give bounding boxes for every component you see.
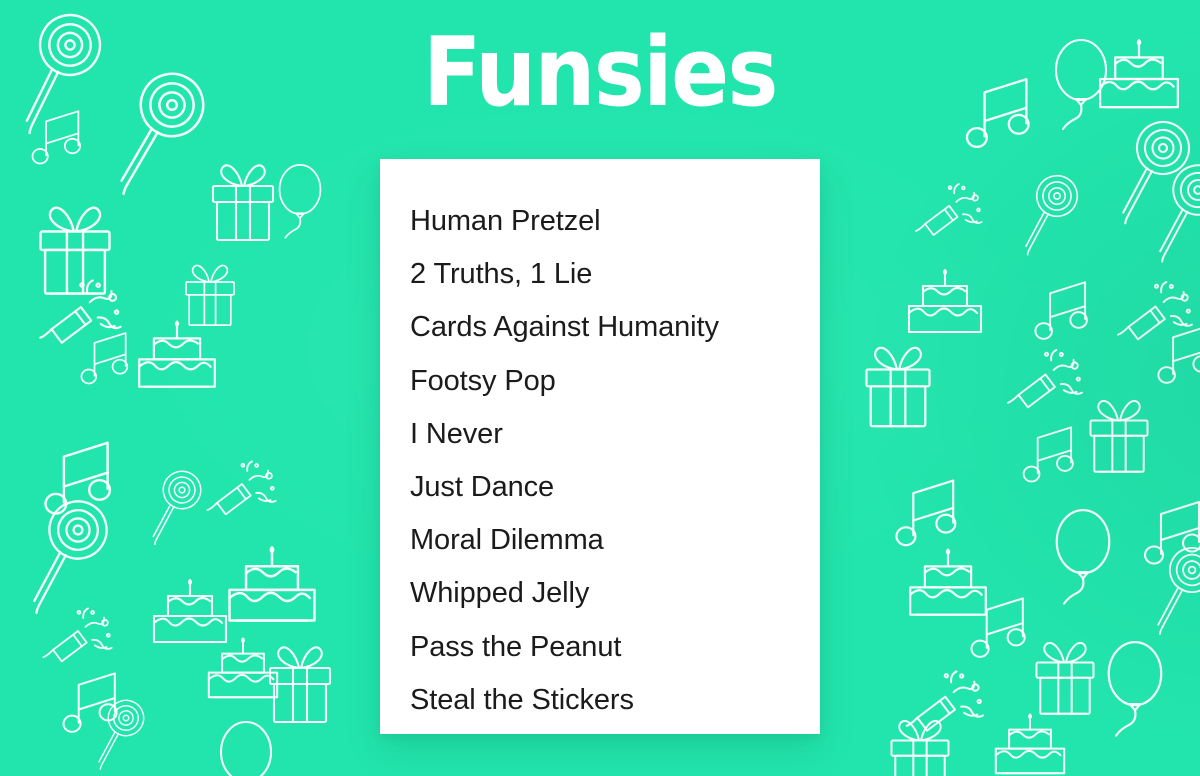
list-item: Moral Dilemma	[410, 514, 790, 567]
list-item: Pass the Peanut	[410, 621, 790, 674]
balloon-icon	[1057, 510, 1110, 603]
lollipop-icon	[10, 495, 124, 613]
party-popper-icon	[207, 456, 280, 521]
party-popper-icon	[1008, 344, 1088, 414]
list-item: I Never	[410, 408, 790, 461]
gift-box-icon	[41, 208, 110, 294]
gift-box-icon	[1091, 401, 1148, 472]
birthday-cake-icon	[230, 547, 315, 620]
games-list-card: Human Pretzel2 Truths, 1 LieCards Agains…	[380, 159, 820, 734]
games-list: Human Pretzel2 Truths, 1 LieCards Agains…	[410, 195, 790, 727]
lollipop-icon	[1009, 171, 1090, 255]
music-note-icon	[1158, 326, 1200, 383]
music-note-icon	[1035, 282, 1087, 339]
lollipop-icon	[1139, 543, 1200, 634]
party-popper-icon	[43, 603, 116, 668]
gift-box-icon	[213, 165, 273, 240]
birthday-cake-icon	[209, 638, 277, 697]
music-note-icon	[897, 481, 956, 546]
list-item: Footsy Pop	[410, 355, 790, 408]
party-popper-icon	[906, 666, 988, 738]
birthday-cake-icon	[139, 322, 215, 387]
list-item: Cards Against Humanity	[410, 301, 790, 354]
music-note-icon	[972, 598, 1025, 656]
birthday-cake-icon	[154, 580, 226, 642]
list-item: Steal the Stickers	[410, 674, 790, 727]
music-note-icon	[1024, 427, 1073, 481]
party-popper-icon	[1118, 276, 1198, 346]
lollipop-icon	[84, 696, 155, 769]
gift-box-icon	[892, 721, 949, 776]
gift-box-icon	[270, 647, 330, 722]
list-item: Just Dance	[410, 461, 790, 514]
balloon-icon	[221, 722, 271, 776]
music-note-icon	[46, 443, 110, 514]
birthday-cake-icon	[910, 550, 986, 615]
party-popper-icon	[40, 274, 126, 350]
page-title: Funsies	[0, 24, 1200, 124]
gift-box-icon	[1037, 643, 1094, 714]
birthday-cake-icon	[996, 714, 1064, 773]
list-item: Human Pretzel	[410, 195, 790, 248]
party-popper-icon	[916, 179, 987, 241]
lollipop-icon	[137, 467, 212, 544]
gift-box-icon	[867, 348, 930, 426]
music-note-icon	[81, 333, 127, 383]
list-item: 2 Truths, 1 Lie	[410, 248, 790, 301]
lollipop-icon	[1139, 159, 1200, 261]
list-item: Whipped Jelly	[410, 567, 790, 620]
birthday-cake-icon	[909, 270, 981, 332]
balloon-icon	[280, 165, 321, 238]
balloon-icon	[1109, 642, 1162, 735]
gift-box-icon	[186, 265, 234, 325]
